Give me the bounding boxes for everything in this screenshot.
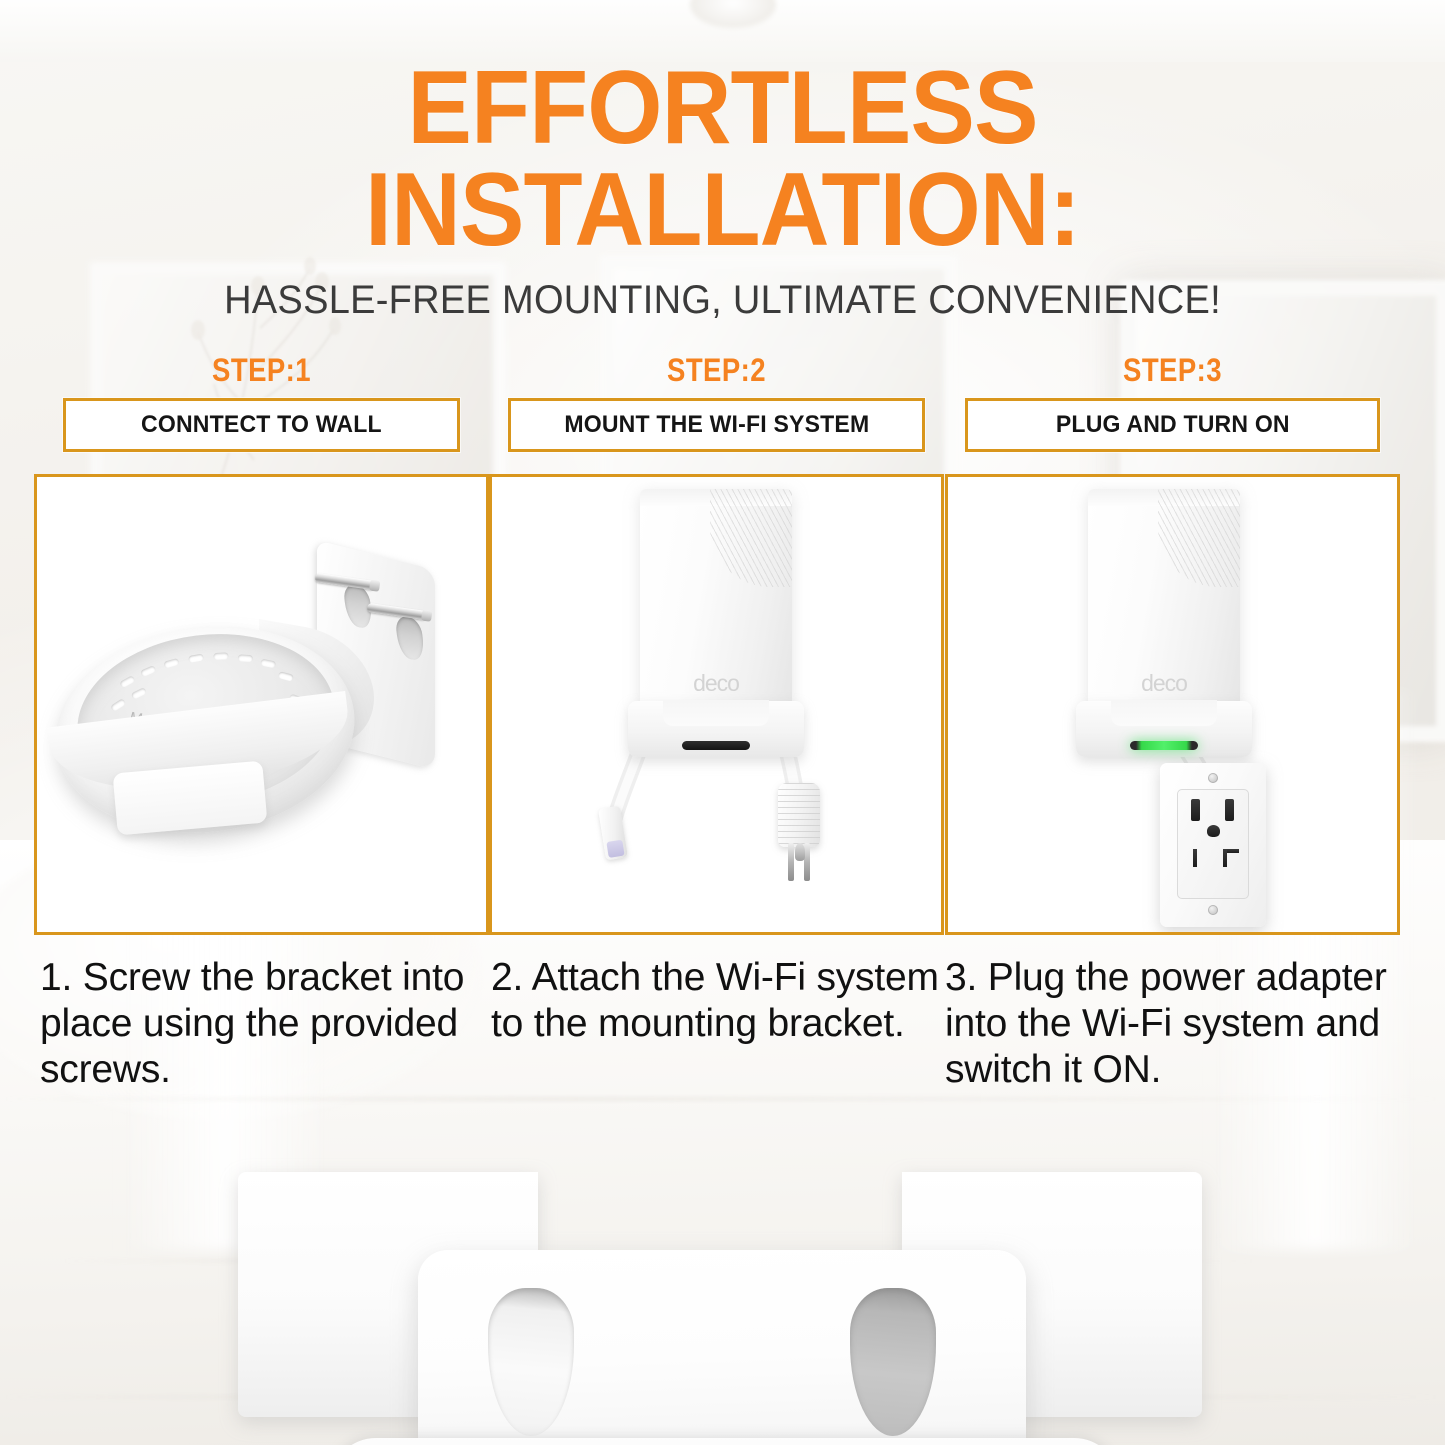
wall-outlet-faceplate <box>1177 789 1249 899</box>
step-card-3: STEP:3 PLUG AND TURN ON deco <box>945 352 1400 1093</box>
step-caption-2: 2. Attach the Wi-Fi system to the mounti… <box>491 955 944 1047</box>
page-title: EFFORTLESS INSTALLATION: <box>51 0 1395 262</box>
deco-base-bracket-2 <box>628 701 804 757</box>
step-photo-3: deco <box>945 474 1400 935</box>
deco-body-3: deco <box>1088 489 1240 707</box>
step-caption-3: 3. Plug the power adapter into the Wi-Fi… <box>945 955 1400 1093</box>
step-number-1: STEP:1 <box>66 352 457 389</box>
deco-base-notch-3 <box>1111 700 1217 726</box>
step-caption-1: 1. Screw the bracket into place using th… <box>40 955 489 1093</box>
page-subtitle: HASSLE-FREE MOUNTING, ULTIMATE CONVENIEN… <box>36 278 1409 323</box>
power-plug <box>778 783 820 847</box>
step-label-box-3: PLUG AND TURN ON <box>965 398 1380 452</box>
step-number-3: STEP:3 <box>977 352 1368 389</box>
step-label-text-3: PLUG AND TURN ON <box>1056 411 1290 439</box>
step-card-1: STEP:1 CONNTECT TO WALL <box>34 352 489 1093</box>
deco-mounted-illustration: deco <box>492 477 941 932</box>
step-photo-1: Made in ch <box>34 474 489 935</box>
steps-row: STEP:1 CONNTECT TO WALL <box>0 352 1445 1112</box>
deco-body-2: deco <box>640 489 792 707</box>
outlet-screw-top <box>1208 773 1218 783</box>
step-card-2: STEP:2 MOUNT THE WI-FI SYSTEM <box>489 352 944 1047</box>
deco-base-bracket-3 <box>1076 701 1252 757</box>
outlet-socket-bottom <box>1177 849 1249 899</box>
header: EFFORTLESS INSTALLATION: HASSLE-FREE MOU… <box>0 0 1445 323</box>
deco-logo-3: deco <box>1088 670 1240 697</box>
hero-bracket-lip <box>330 1438 1120 1445</box>
deco-status-led-2 <box>682 741 750 750</box>
wall-outlet <box>1160 763 1266 927</box>
step-photo-2: deco <box>489 474 944 935</box>
deco-logo-2: deco <box>640 670 792 697</box>
bracket-front-lip <box>113 761 268 836</box>
deco-status-led-3 <box>1130 741 1198 750</box>
deco-base-notch-2 <box>663 700 769 726</box>
step-label-text-1: CONNTECT TO WALL <box>141 411 382 439</box>
outlet-socket-top <box>1177 799 1249 849</box>
ethernet-connector <box>598 806 628 861</box>
step-label-box-1: CONNTECT TO WALL <box>63 398 460 452</box>
deco-plugged-illustration: deco <box>948 477 1397 932</box>
step-number-2: STEP:2 <box>521 352 912 389</box>
bracket-illustration: Made in ch <box>37 477 486 932</box>
hero-product-closeup <box>0 1120 1445 1445</box>
outlet-screw-bottom <box>1208 905 1218 915</box>
step-label-text-2: MOUNT THE WI-FI SYSTEM <box>564 411 869 439</box>
step-label-box-2: MOUNT THE WI-FI SYSTEM <box>508 398 925 452</box>
